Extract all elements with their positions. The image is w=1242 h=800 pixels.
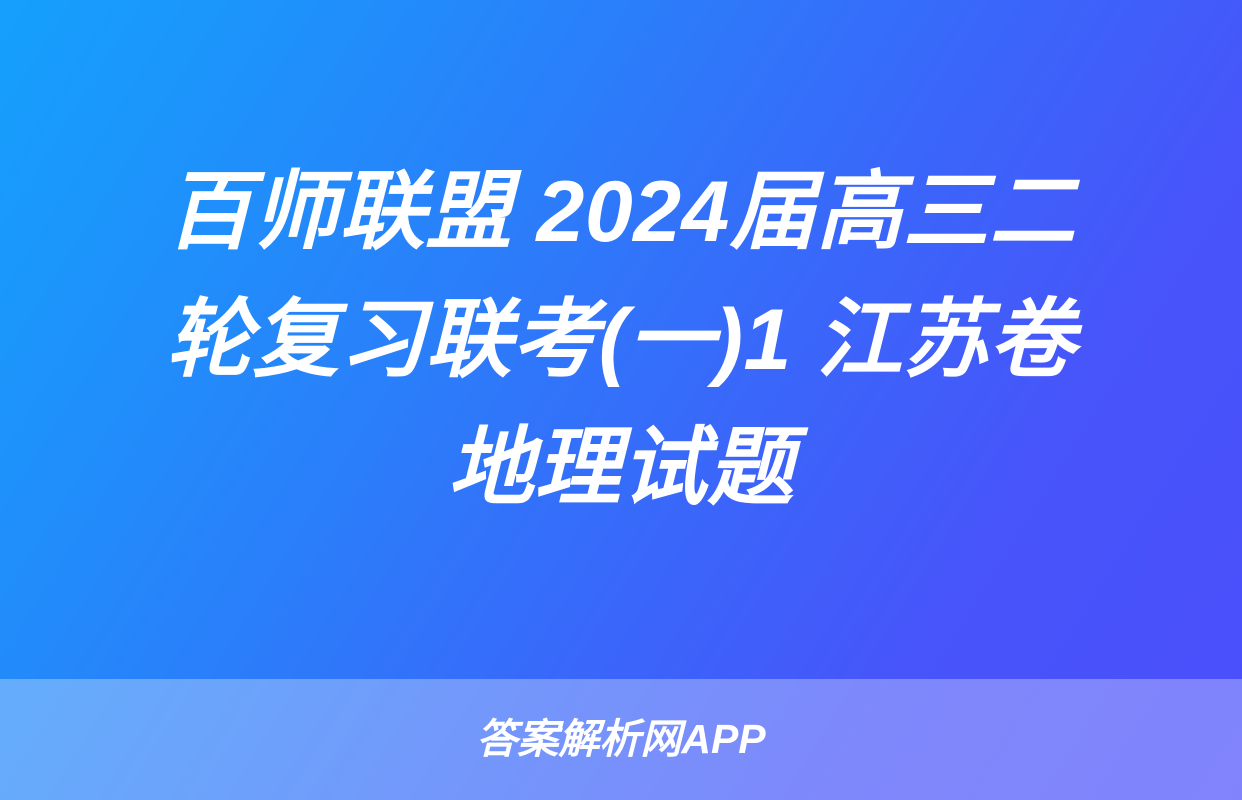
title-line-2: 轮复习联考(一)1 江苏卷 [72, 276, 1170, 404]
app-watermark-label: 答案解析网APP [476, 719, 765, 760]
title-line-1: 百师联盟 2024届高三二 [72, 148, 1170, 276]
footer-band: 答案解析网APP [0, 679, 1242, 800]
title-line-3: 地理试题 [72, 404, 1170, 532]
title-block: 百师联盟 2024届高三二 轮复习联考(一)1 江苏卷 地理试题 [0, 0, 1242, 679]
exam-cover-card: 百师联盟 2024届高三二 轮复习联考(一)1 江苏卷 地理试题 答案解析网AP… [0, 0, 1242, 800]
